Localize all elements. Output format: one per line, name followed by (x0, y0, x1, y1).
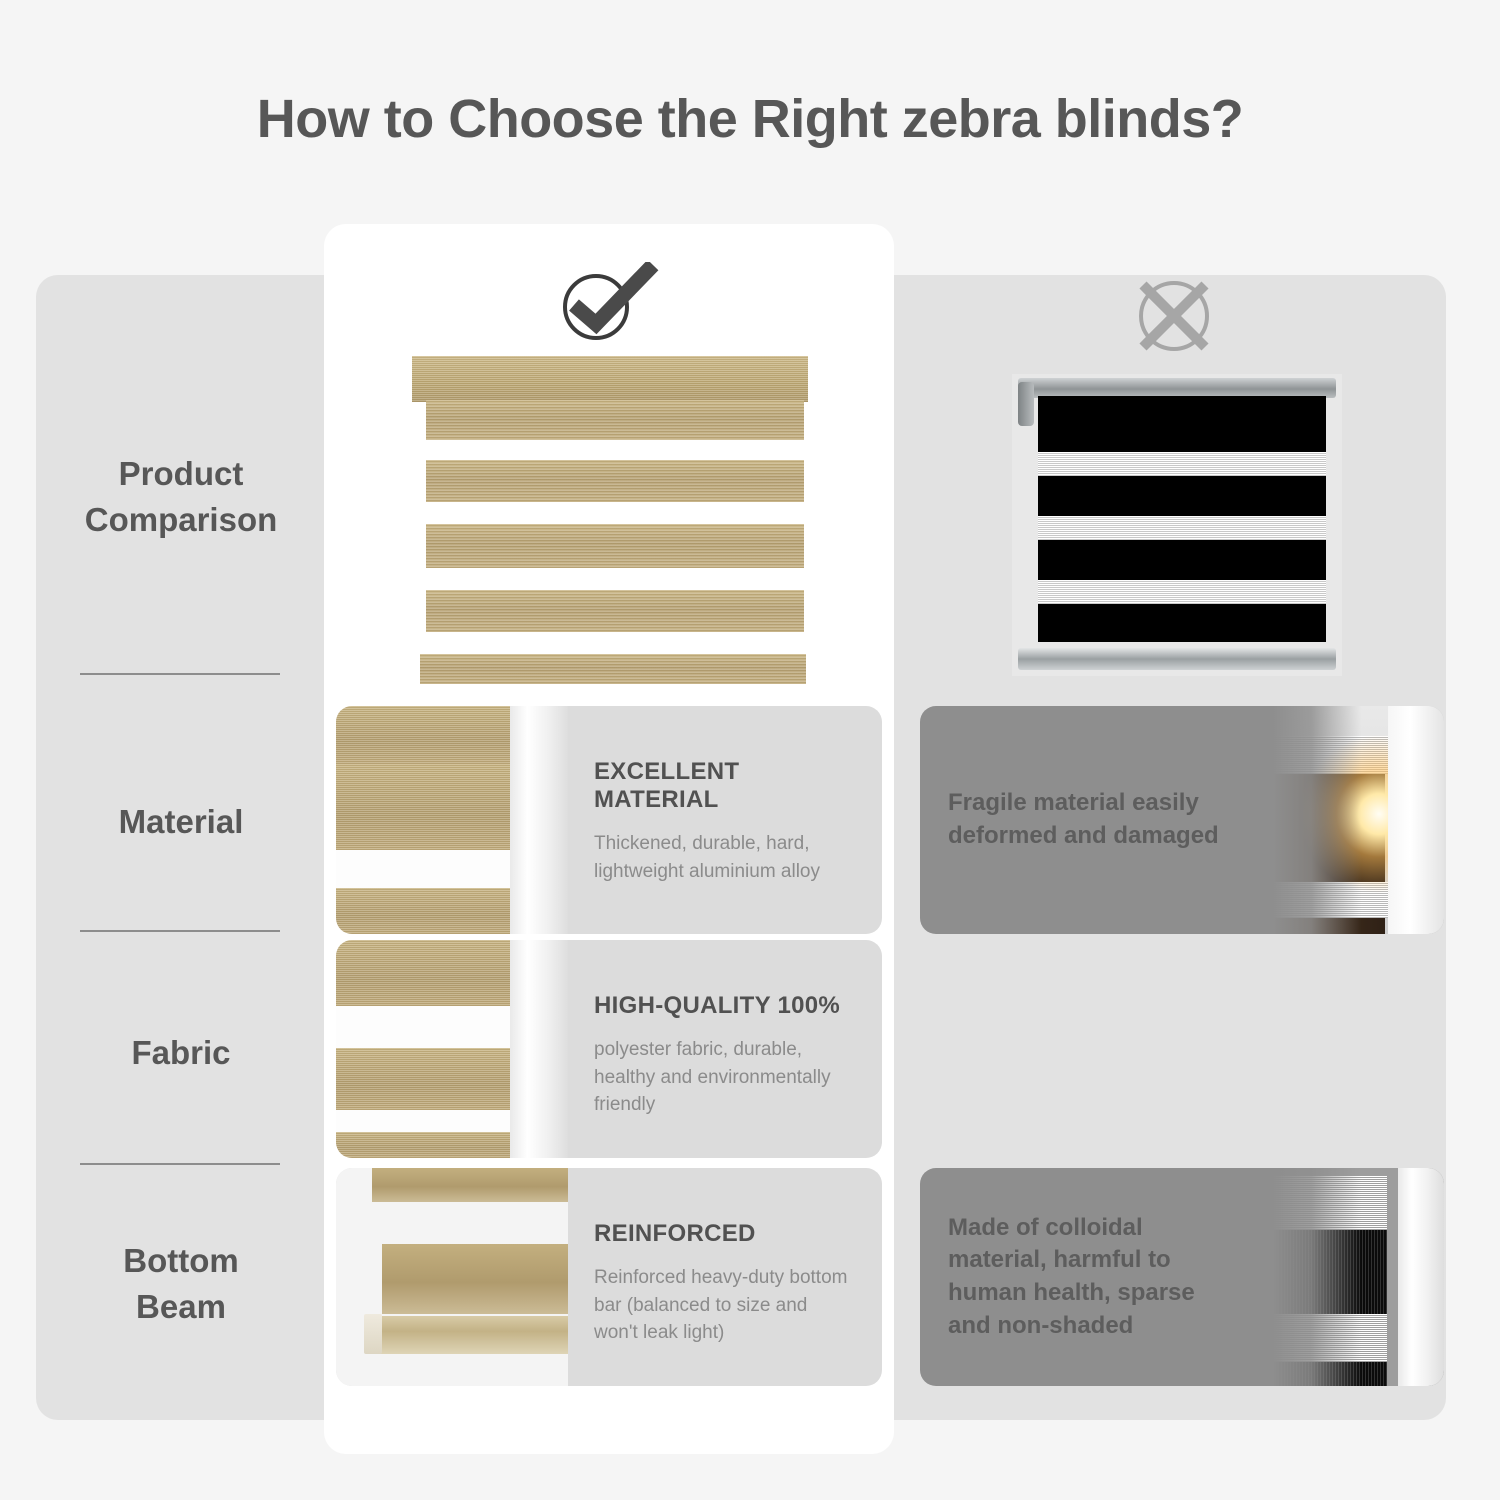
check-circle-icon (552, 262, 662, 342)
blind-sheer-stripe (1038, 580, 1326, 604)
page-title: How to Choose the Right zebra blinds? (0, 88, 1500, 150)
blind-slat (426, 400, 804, 440)
blind-valance (412, 356, 808, 402)
row-divider-3 (80, 1163, 280, 1165)
row-label-fabric: Fabric (36, 1030, 326, 1076)
blind-slat (372, 1168, 568, 1202)
blind-slat (426, 524, 804, 568)
row-label-product-comparison: Product Comparison (36, 451, 326, 542)
x-circle-icon (1122, 276, 1226, 356)
hero-image-good (404, 352, 816, 700)
good-bottom-beam-image (336, 1168, 568, 1386)
row-label-line-1: Bottom (36, 1238, 326, 1284)
window-frame (510, 706, 568, 934)
row-label-bottom-beam: Bottom Beam (36, 1238, 326, 1329)
good-fabric-heading: HIGH-QUALITY 100% (594, 992, 856, 1020)
blind-sheer-stripe (1038, 452, 1326, 476)
infographic-root: How to Choose the Right zebra blinds? Pr… (0, 0, 1500, 1500)
row-label-material: Material (36, 799, 326, 845)
blind-bottom-bar (1018, 648, 1336, 670)
row-label-line-2: Beam (36, 1284, 326, 1330)
blind-sheer-stripe (1038, 516, 1326, 540)
bad-feature-fabric: Made of colloidal material, harmful to h… (920, 1168, 1444, 1386)
good-feature-fabric: HIGH-QUALITY 100% polyester fabric, dura… (336, 940, 882, 1158)
good-feature-bottom-beam: REINFORCED Reinforced heavy-duty bottom … (336, 1168, 882, 1386)
row-label-line-2: Comparison (36, 497, 326, 543)
window-frame (510, 940, 568, 1158)
blind-headrail (1018, 378, 1336, 398)
bad-fabric-text: Made of colloidal material, harmful to h… (948, 1168, 1238, 1386)
reinforced-bottom-bar (374, 1316, 568, 1354)
good-fabric-body: polyester fabric, durable, healthy and e… (594, 1036, 856, 1119)
good-material-image (336, 706, 568, 934)
blind-slat (382, 1244, 568, 1314)
black-blind-scene (1012, 374, 1342, 676)
row-label-column: Product Comparison Material Fabric Botto… (36, 275, 326, 1420)
bad-material-label: Fragile material easily deformed and dam… (948, 787, 1238, 852)
bad-fabric-label: Made of colloidal material, harmful to h… (948, 1212, 1238, 1343)
good-fabric-image (336, 940, 568, 1158)
good-bottom-beam-heading: REINFORCED (594, 1220, 856, 1248)
row-divider-2 (80, 930, 280, 932)
good-fabric-text: HIGH-QUALITY 100% polyester fabric, dura… (568, 940, 882, 1158)
blind-end-cap (1018, 382, 1034, 426)
row-label-line-1: Product (36, 451, 326, 497)
blind-slat (426, 460, 804, 502)
good-material-heading: EXCELLENT MATERIAL (594, 758, 856, 814)
row-divider-1 (80, 673, 280, 675)
good-feature-material: EXCELLENT MATERIAL Thickened, durable, h… (336, 706, 882, 934)
good-material-body: Thickened, durable, hard, lightweight al… (594, 830, 856, 885)
bad-material-text: Fragile material easily deformed and dam… (948, 706, 1238, 934)
hero-image-bad (1012, 374, 1342, 676)
blind-bottom-rail (420, 654, 806, 684)
good-bottom-beam-text: REINFORCED Reinforced heavy-duty bottom … (568, 1168, 882, 1386)
bad-feature-material: Fragile material easily deformed and dam… (920, 706, 1444, 934)
good-bottom-beam-body: Reinforced heavy-duty bottom bar (balanc… (594, 1264, 856, 1347)
blind-slat (426, 590, 804, 632)
bottom-bar-end-cap (364, 1314, 382, 1354)
good-material-text: EXCELLENT MATERIAL Thickened, durable, h… (568, 706, 882, 934)
